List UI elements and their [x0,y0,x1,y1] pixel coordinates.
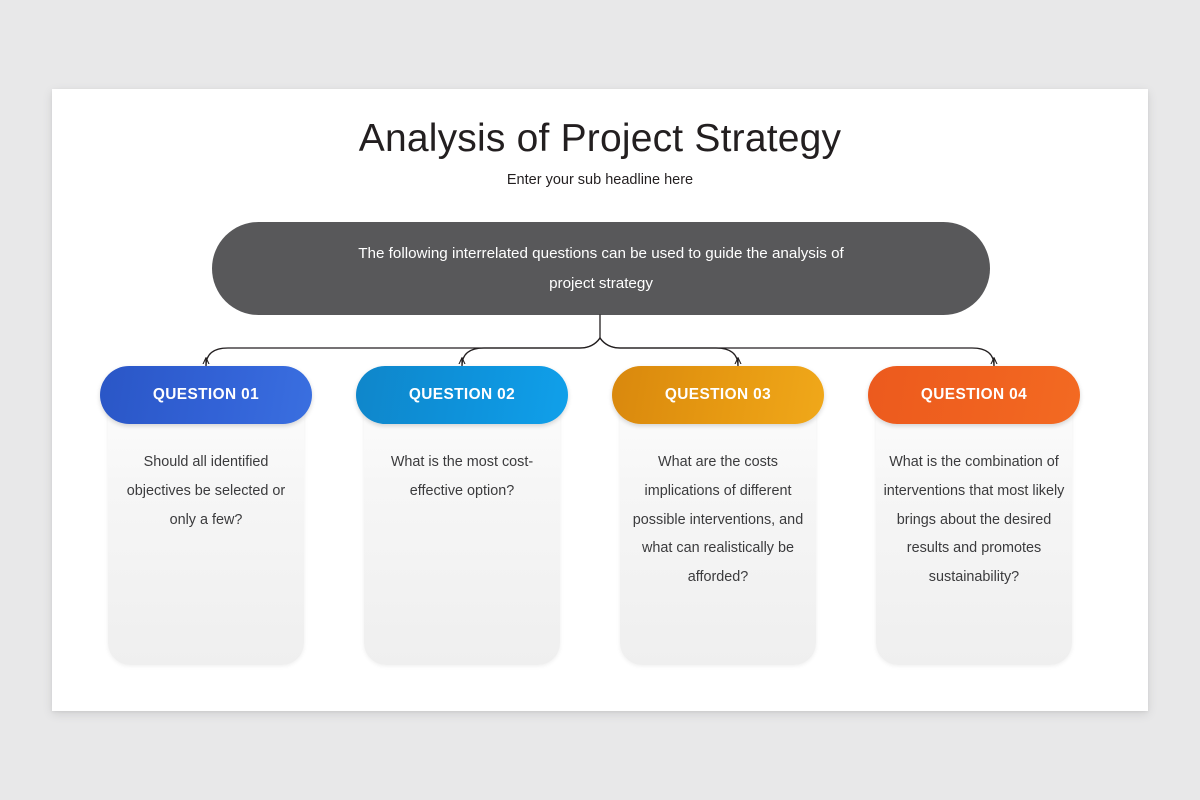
question-card-body: What are the costs implications of diffe… [620,390,816,665]
question-card-text: What are the costs implications of diffe… [626,448,810,592]
question-card-label: QUESTION 02 [409,386,515,404]
question-card-body: What is the most cost-effective option? [364,390,560,665]
question-card-header[interactable]: QUESTION 02 [356,366,568,424]
page-subtitle: Enter your sub headline here [52,172,1148,188]
question-card-header[interactable]: QUESTION 04 [868,366,1080,424]
slide-canvas: Analysis of Project Strategy Enter your … [52,89,1148,711]
question-card-label: QUESTION 03 [665,386,771,404]
question-card-header[interactable]: QUESTION 01 [100,366,312,424]
question-card-text: What is the most cost-effective option? [370,448,554,506]
question-card-text: What is the combination of interventions… [882,448,1066,592]
banner-pill: The following interrelated questions can… [212,222,990,315]
question-card-header[interactable]: QUESTION 03 [612,366,824,424]
page-title: Analysis of Project Strategy [52,117,1148,161]
question-card-text: Should all identified objectives be sele… [114,448,298,534]
question-card-label: QUESTION 01 [153,386,259,404]
banner-text: The following interrelated questions can… [341,239,861,299]
question-card-label: QUESTION 04 [921,386,1027,404]
question-card-body: Should all identified objectives be sele… [108,390,304,665]
question-card-body: What is the combination of interventions… [876,390,1072,665]
